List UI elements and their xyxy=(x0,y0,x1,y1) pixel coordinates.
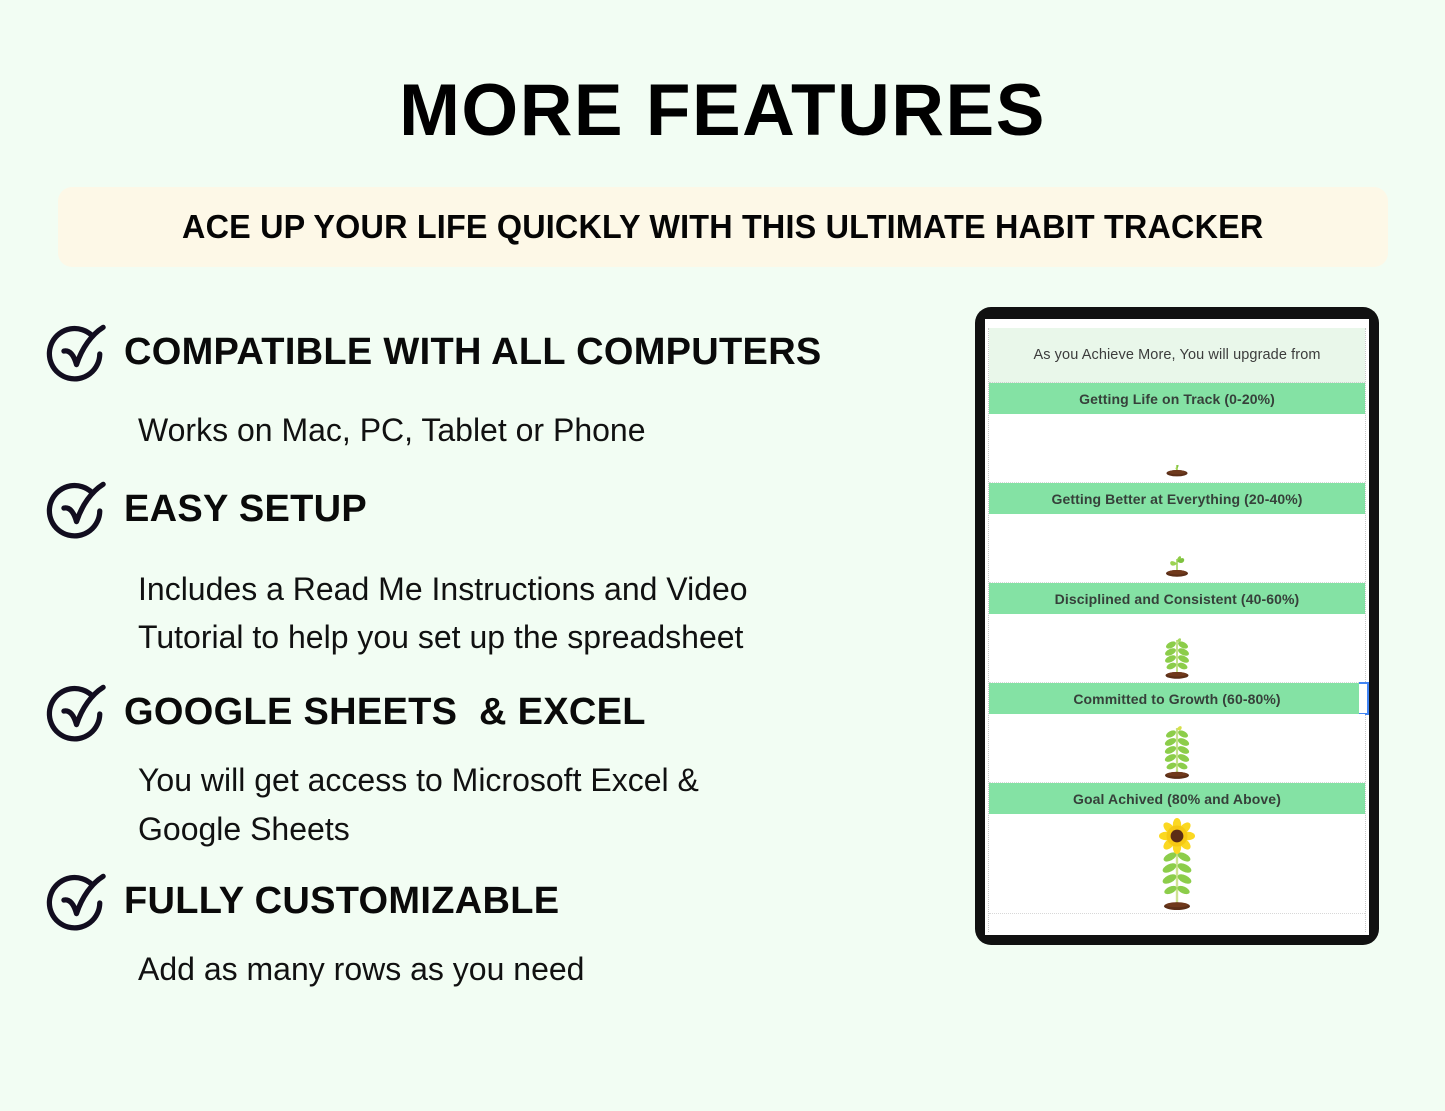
spreadsheet-header-text: As you Achieve More, You will upgrade fr… xyxy=(1033,347,1320,363)
table-row[interactable]: Disciplined and Consistent (40-60%) xyxy=(989,583,1365,614)
plant-row[interactable] xyxy=(989,514,1365,583)
feature-description: Includes a Read Me Instructions and Vide… xyxy=(138,565,946,662)
feature-description: You will get access to Microsoft Excel &… xyxy=(138,756,946,853)
check-circle-icon xyxy=(46,682,108,744)
table-row[interactable]: Getting Life on Track (0-20%) xyxy=(989,383,1365,414)
plant-row[interactable] xyxy=(989,614,1365,683)
feature-title: COMPATIBLE WITH ALL COMPUTERS xyxy=(124,333,822,373)
table-row-selected[interactable]: Committed to Growth (60-80%) xyxy=(989,683,1365,714)
plant-row[interactable] xyxy=(989,714,1365,783)
feature-item-google-sheets-excel: GOOGLE SHEETS & EXCEL You will get acces… xyxy=(46,682,946,853)
feature-item-easy-setup: EASY SETUP Includes a Read Me Instructio… xyxy=(46,479,946,662)
subtitle-banner: ACE UP YOUR LIFE QUICKLY WITH THIS ULTIM… xyxy=(58,187,1388,267)
small-plant-icon xyxy=(1159,544,1195,580)
milestone-label: Disciplined and Consistent (40-60%) xyxy=(1055,591,1300,607)
feature-list: COMPATIBLE WITH ALL COMPUTERS Works on M… xyxy=(46,322,946,998)
spreadsheet-header-row[interactable]: As you Achieve More, You will upgrade fr… xyxy=(989,328,1365,383)
feature-heading-row: EASY SETUP xyxy=(46,479,946,541)
device-screen: As you Achieve More, You will upgrade fr… xyxy=(985,319,1369,935)
tall-plant-icon xyxy=(1156,720,1198,780)
device-frame: As you Achieve More, You will upgrade fr… xyxy=(975,307,1379,945)
plant-row[interactable] xyxy=(989,414,1365,483)
feature-title: EASY SETUP xyxy=(124,490,367,530)
spreadsheet-preview[interactable]: As you Achieve More, You will upgrade fr… xyxy=(988,328,1366,932)
table-row[interactable]: Goal Achived (80% and Above) xyxy=(989,783,1365,814)
feature-heading-row: GOOGLE SHEETS & EXCEL xyxy=(46,682,946,744)
seedling-sprout-icon xyxy=(1160,450,1194,480)
feature-item-fully-customizable: FULLY CUSTOMIZABLE Add as many rows as y… xyxy=(46,871,946,994)
check-circle-icon xyxy=(46,322,108,384)
feature-title: FULLY CUSTOMIZABLE xyxy=(124,882,559,922)
feature-heading-row: COMPATIBLE WITH ALL COMPUTERS xyxy=(46,322,946,384)
check-circle-icon xyxy=(46,871,108,933)
milestone-label: Getting Life on Track (0-20%) xyxy=(1079,391,1275,407)
check-circle-icon xyxy=(46,479,108,541)
plant-row[interactable] xyxy=(989,814,1365,914)
feature-description: Works on Mac, PC, Tablet or Phone xyxy=(138,406,946,455)
table-row[interactable]: Getting Better at Everything (20-40%) xyxy=(989,483,1365,514)
feature-heading-row: FULLY CUSTOMIZABLE xyxy=(46,871,946,933)
milestone-label: Goal Achived (80% and Above) xyxy=(1073,791,1281,807)
milestone-label: Committed to Growth (60-80%) xyxy=(1073,691,1280,707)
sunflower-icon xyxy=(1153,815,1201,911)
page-title: MORE FEATURES xyxy=(0,74,1445,147)
feature-title: GOOGLE SHEETS & EXCEL xyxy=(124,693,646,733)
milestone-label: Getting Better at Everything (20-40%) xyxy=(1051,491,1302,507)
medium-plant-icon xyxy=(1157,630,1197,680)
feature-description: Add as many rows as you need xyxy=(138,945,946,994)
subtitle-banner-text: ACE UP YOUR LIFE QUICKLY WITH THIS ULTIM… xyxy=(182,208,1263,246)
feature-item-compatible: COMPATIBLE WITH ALL COMPUTERS Works on M… xyxy=(46,322,946,455)
